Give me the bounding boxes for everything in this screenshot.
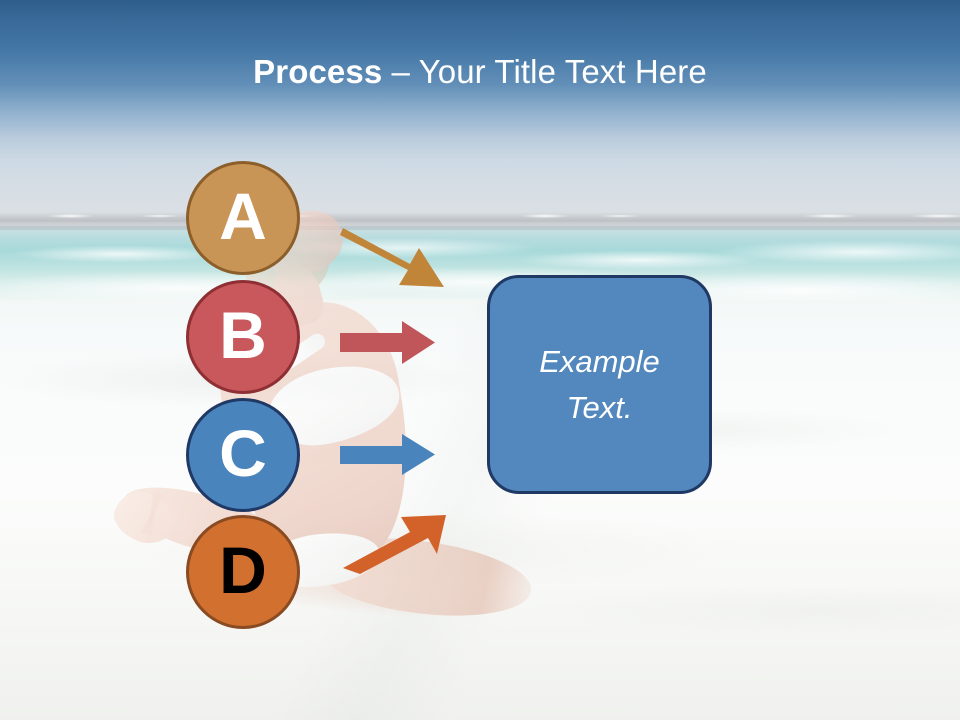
arrow-a <box>340 224 450 296</box>
result-box[interactable]: Example Text. <box>487 275 712 494</box>
arrow-b <box>340 321 436 365</box>
arrow-d-shape <box>343 515 446 574</box>
arrow-d <box>340 500 450 572</box>
step-label-b: B <box>219 302 267 368</box>
step-circle-b[interactable]: B <box>186 280 300 394</box>
slide-title-bold: Process <box>253 53 382 90</box>
step-circle-d[interactable]: D <box>186 515 300 629</box>
sky-gradient <box>0 0 960 222</box>
step-label-c: C <box>219 420 267 486</box>
step-label-a: A <box>219 183 267 249</box>
arrow-b-shape <box>340 321 435 364</box>
result-box-text: Example Text. <box>539 339 660 431</box>
result-box-line2: Text. <box>539 385 660 431</box>
arrow-c-shape <box>340 434 435 475</box>
slide-title: Process – Your Title Text Here <box>0 52 960 92</box>
result-box-line1: Example <box>539 339 660 385</box>
step-circle-c[interactable]: C <box>186 398 300 512</box>
arrow-c <box>340 434 436 476</box>
step-label-d: D <box>219 537 267 603</box>
arrow-a-shape <box>340 228 444 287</box>
slide-canvas: Process – Your Title Text Here A B C D <box>0 0 960 720</box>
sunbather-figure <box>110 196 510 616</box>
step-circle-a[interactable]: A <box>186 161 300 275</box>
slide-title-rest: – Your Title Text Here <box>382 53 707 90</box>
